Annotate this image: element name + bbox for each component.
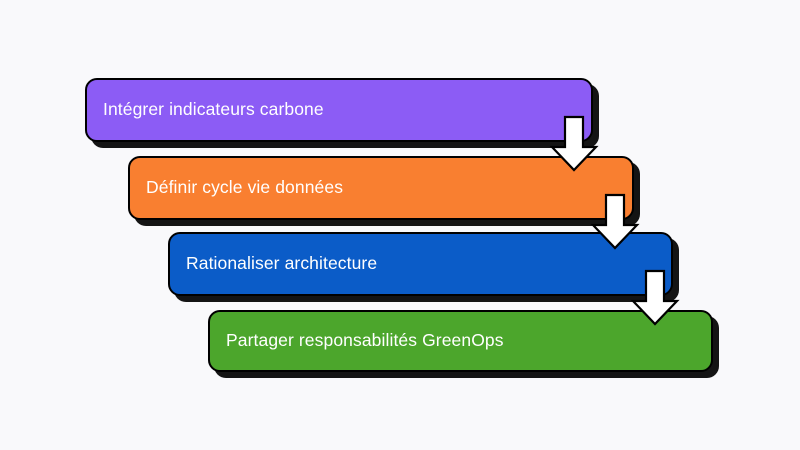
- connector-arrow-3: [632, 271, 678, 325]
- step-label-4: Partager responsabilités GreenOps: [210, 331, 504, 350]
- down-arrow-icon: [632, 271, 678, 325]
- step-label-1: Intégrer indicateurs carbone: [87, 100, 324, 119]
- step-label-3: Rationaliser architecture: [170, 254, 377, 273]
- down-arrow-icon: [592, 195, 638, 249]
- step-label-2: Définir cycle vie données: [130, 178, 343, 197]
- connector-arrow-2: [592, 195, 638, 249]
- step-box-1[interactable]: Intégrer indicateurs carbone: [85, 78, 593, 142]
- diagram-canvas: Intégrer indicateurs carbone Définir cyc…: [0, 0, 800, 450]
- connector-arrow-1: [551, 117, 597, 171]
- down-arrow-icon: [551, 117, 597, 171]
